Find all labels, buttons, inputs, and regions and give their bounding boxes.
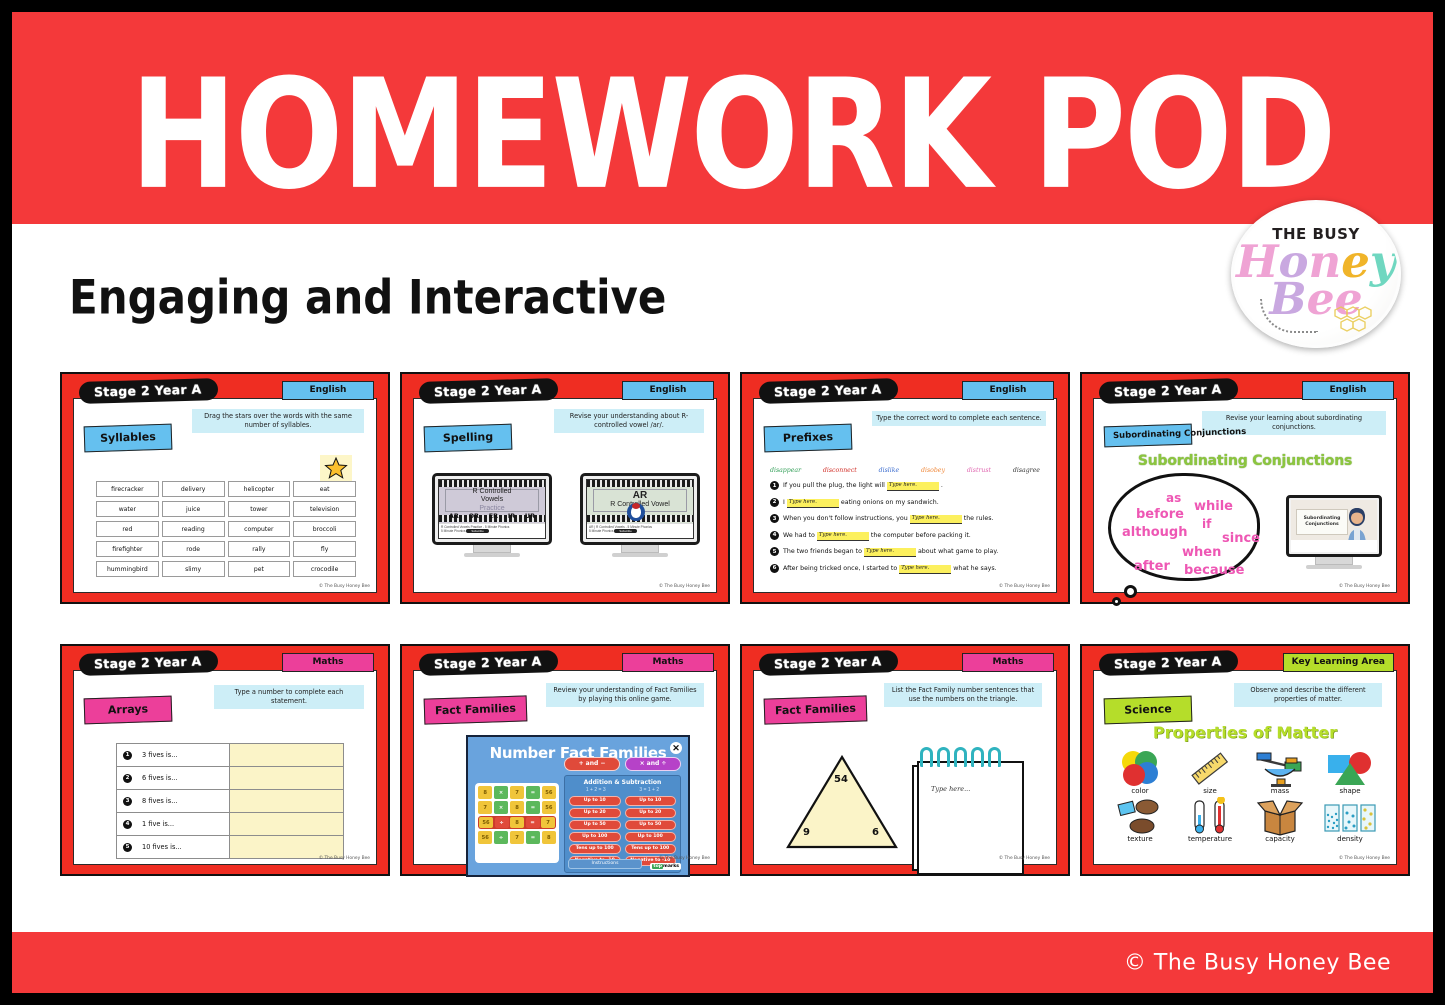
- table-row: 2 6 fives is...: [117, 767, 343, 790]
- conjunction-word: while: [1194, 499, 1233, 514]
- card-credit: © The Busy Honey Bee: [659, 856, 710, 861]
- board-cell: 7: [510, 831, 524, 844]
- video-info-bar: R Controlled Vowels Practice - 5 Minute …: [439, 523, 545, 538]
- item-number: 2: [123, 774, 132, 783]
- level-button[interactable]: Up to 20: [569, 808, 621, 818]
- sentence-after: about what game to play.: [918, 548, 998, 555]
- conjunction-word: because: [1184, 563, 1244, 578]
- triangle-right-number: 6: [872, 827, 879, 838]
- level-button[interactable]: Tens up to 100: [625, 844, 677, 854]
- instruction-text: Drag the stars over the words with the s…: [192, 409, 364, 433]
- word-bank-item: disagree: [1013, 467, 1040, 474]
- bubble-dot: [1124, 585, 1137, 598]
- word-bank-item: dislike: [879, 467, 899, 474]
- answer-input[interactable]: Type here.: [910, 515, 962, 524]
- page-title: HOMEWORK POD: [130, 38, 1345, 233]
- conjunction-word: although: [1122, 525, 1187, 540]
- card-body: Fact Families Review your understanding …: [413, 670, 717, 865]
- item-number: 6: [770, 564, 779, 573]
- word-cell[interactable]: computer: [228, 521, 291, 537]
- property-item: mass: [1246, 749, 1314, 795]
- board-cell: 8: [510, 801, 524, 814]
- card-credit: © The Busy Honey Bee: [999, 584, 1050, 589]
- level-button[interactable]: Up to 20: [625, 808, 677, 818]
- card-row-1: Stage 2 Year A English Syllables Drag th…: [60, 372, 1407, 604]
- ring-icon: [937, 747, 950, 767]
- card-credit: © The Busy Honey Bee: [1339, 856, 1390, 861]
- mode-multiplication-button[interactable]: × and ÷: [625, 757, 681, 771]
- ring-icon: [920, 747, 933, 767]
- word-cell[interactable]: broccoli: [293, 521, 356, 537]
- question-cell: 1 3 fives is...: [117, 744, 230, 766]
- table-row: hummingbird slimy pet crocodile: [96, 561, 356, 577]
- card-credit: © The Busy Honey Bee: [319, 584, 370, 589]
- game-board: 8 × 7 = 56 7 × 8 =: [475, 783, 559, 863]
- video-thumbnail[interactable]: Subordinating Conjunctions: [1286, 495, 1382, 569]
- topic-badge-fact-families: Fact Families: [764, 695, 868, 724]
- arrays-table: 1 3 fives is... 2 6 fives is...: [116, 743, 344, 859]
- answer-input[interactable]: [230, 813, 343, 835]
- poster-inner: HOMEWORK POD Engaging and Interactive TH…: [12, 12, 1433, 993]
- answer-input[interactable]: Type here.: [864, 548, 916, 557]
- video-info-bar: [1291, 540, 1377, 552]
- topmarks-logo: topmarks: [650, 863, 681, 870]
- footer-spacer: [12, 918, 1433, 932]
- slide-title: Properties of Matter: [1094, 723, 1396, 742]
- stage-badge: Stage 2 Year A: [419, 378, 559, 404]
- card-grid: Stage 2 Year A English Syllables Drag th…: [12, 372, 1433, 918]
- kla-badge-maths: Maths: [962, 653, 1054, 672]
- word-bank: disappear disconnect dislike disobey dis…: [770, 467, 1040, 474]
- word-cell[interactable]: delivery: [162, 481, 225, 497]
- sentence-before: If you pull the plug, the light will: [783, 482, 885, 489]
- answer-input[interactable]: Type here.: [899, 565, 951, 574]
- conjunction-word: before: [1136, 507, 1184, 522]
- card-body: Syllables Drag the stars over the words …: [73, 398, 377, 593]
- kla-badge-english: English: [962, 381, 1054, 400]
- honeycomb-icon: [1334, 305, 1376, 335]
- card-credit: © The Busy Honey Bee: [999, 856, 1050, 861]
- conjunction-word: after: [1134, 559, 1170, 574]
- shapes-icon: [1316, 749, 1384, 789]
- card-fact-families-game[interactable]: Stage 2 Year A Maths Fact Families Revie…: [400, 644, 730, 876]
- card-science[interactable]: Stage 2 Year A Key Learning Area Science…: [1080, 644, 1410, 876]
- monitor-screen: Subordinating Conjunctions: [1291, 500, 1377, 552]
- level-button[interactable]: Up to 100: [625, 832, 677, 842]
- monitor-stand: [621, 545, 659, 553]
- panel-subheads: 1 + 2 = 3 3 = 1 + 2: [569, 787, 676, 793]
- sentence-after: what he says.: [953, 565, 997, 572]
- word-cell[interactable]: reading: [162, 521, 225, 537]
- triangle-left-number: 9: [803, 827, 810, 838]
- instructions-button[interactable]: Instructions: [568, 859, 642, 870]
- board-cell: 56: [478, 831, 492, 844]
- ring-icon: [971, 747, 984, 767]
- property-item: temperature: [1176, 797, 1244, 843]
- item-number: 5: [770, 547, 779, 556]
- board-cell: ×: [494, 801, 508, 814]
- notepad-input[interactable]: Type here...: [931, 785, 970, 793]
- instruction-text: Type the correct word to complete each s…: [872, 411, 1046, 426]
- level-button[interactable]: Up to 50: [569, 820, 621, 830]
- kla-badge-key-learning-area: Key Learning Area: [1283, 653, 1394, 672]
- item-number: 4: [123, 820, 132, 829]
- question-text: 10 fives is...: [142, 843, 182, 851]
- vowel-list: AR OR ER IR UR: [444, 512, 540, 520]
- beakers-icon: [1316, 797, 1384, 837]
- board-cell: ×: [494, 786, 508, 799]
- card-syllables[interactable]: Stage 2 Year A English Syllables Drag th…: [60, 372, 390, 604]
- video-thumbnail-left[interactable]: R Controlled Vowels Practice AR OR ER IR: [432, 473, 552, 557]
- thermometers-icon: [1176, 797, 1244, 837]
- card-subordinating-conjunctions[interactable]: Stage 2 Year A English Subordinating Con…: [1080, 372, 1410, 604]
- syllables-table: firecracker delivery helicopter eat wate…: [96, 481, 356, 581]
- sentence-after: the rules.: [964, 515, 994, 522]
- kla-badge-english: English: [622, 381, 714, 400]
- color-circles-icon: [1106, 749, 1174, 789]
- sentence-item: 4 We had to Type here. the computer befo…: [770, 531, 1042, 540]
- word-bank-item: disobey: [921, 467, 945, 474]
- board-cell: 7: [541, 817, 555, 828]
- board-cell: 8: [478, 786, 492, 799]
- board-cell: ÷: [495, 817, 509, 828]
- question-text: 3 fives is...: [142, 751, 178, 759]
- game-mode-buttons: + and − × and ÷: [564, 757, 681, 771]
- property-item: density: [1316, 797, 1384, 843]
- monitor-frame: AR R Controlled Vowel AR | R Controlled …: [580, 473, 700, 545]
- fact-triangle: 54 9 6: [784, 753, 900, 851]
- board-cell: =: [526, 801, 540, 814]
- hero-banner: HOMEWORK POD: [12, 12, 1433, 224]
- star-icon: [324, 456, 348, 480]
- instruction-text: Observe and describe the different prope…: [1234, 683, 1382, 707]
- texture-rocks-icon: [1106, 797, 1174, 837]
- table-row: red reading computer broccoli: [96, 521, 356, 537]
- card-credit: © The Busy Honey Bee: [659, 584, 710, 589]
- panel-title: Addition & Subtraction: [569, 779, 676, 786]
- sentence-before: After being tricked once, I started to: [783, 565, 897, 572]
- level-button[interactable]: Up to 10: [625, 796, 677, 806]
- board-row: 56 ÷ 7 = 8: [478, 831, 556, 844]
- board-row: 8 × 7 = 56: [478, 786, 556, 799]
- board-cell: 56: [479, 817, 493, 828]
- penguin-avatar-icon: [627, 503, 645, 521]
- kla-badge-english: English: [1302, 381, 1394, 400]
- subscribe-button[interactable]: Subscribe: [614, 529, 636, 533]
- board-cell: 56: [542, 786, 556, 799]
- logo-swirl-icon: [1260, 299, 1318, 333]
- stage-badge: Stage 2 Year A: [1099, 378, 1239, 404]
- notepad-rings: [920, 747, 1001, 767]
- instruction-text: List the Fact Family number sentences th…: [884, 683, 1042, 707]
- monitor-screen: R Controlled Vowels Practice AR OR ER IR: [438, 479, 546, 539]
- footer-bar: © The Busy Honey Bee: [12, 932, 1433, 993]
- ring-icon: [988, 747, 1001, 767]
- stage-badge: Stage 2 Year A: [79, 378, 219, 404]
- conjunction-word: if: [1202, 517, 1211, 531]
- word-cell[interactable]: fly: [293, 541, 356, 557]
- card-credit: © The Busy Honey Bee: [319, 856, 370, 861]
- stage-badge: Stage 2 Year A: [419, 650, 559, 676]
- word-bank-item: disappear: [770, 467, 801, 474]
- card-body: Spelling Revise your understanding about…: [413, 398, 717, 593]
- whiteboard-text: Subordinating Conjunctions: [1296, 509, 1348, 535]
- topic-badge-science: Science: [1104, 696, 1193, 725]
- card-credit: © The Busy Honey Bee: [1339, 584, 1390, 589]
- item-number: 3: [770, 514, 779, 523]
- ring-icon: [954, 747, 967, 767]
- level-button[interactable]: Up to 10: [569, 796, 621, 806]
- online-game-window[interactable]: Number Fact Families ✕ + and − × and ÷ 8…: [466, 735, 690, 877]
- card-prefixes[interactable]: Stage 2 Year A English Prefixes Type the…: [740, 372, 1070, 604]
- box-icon: [1246, 797, 1314, 837]
- word-cell[interactable]: red: [96, 521, 159, 537]
- sentence-before: We had to: [783, 532, 815, 539]
- properties-grid: color: [1106, 749, 1384, 843]
- property-item: color: [1106, 749, 1174, 795]
- board-cell: ÷: [494, 831, 508, 844]
- monitor-frame: Subordinating Conjunctions: [1286, 495, 1382, 557]
- table-row: firefighter rode rally fly: [96, 541, 356, 557]
- monitor-base: [464, 553, 520, 557]
- word-cell[interactable]: crocodile: [293, 561, 356, 577]
- col-head-1: 1 + 2 = 3: [586, 787, 606, 793]
- card-row-2: Stage 2 Year A Maths Arrays Type a numbe…: [60, 644, 1407, 876]
- poster-page: HOMEWORK POD Engaging and Interactive TH…: [0, 0, 1445, 1005]
- subtitle-band: Engaging and Interactive: [12, 224, 1433, 372]
- level-button[interactable]: Up to 50: [625, 820, 677, 830]
- sentence-item: 2 I Type here. eating onions on my sandw…: [770, 498, 1042, 507]
- stage-badge: Stage 2 Year A: [79, 650, 219, 676]
- page-subtitle: Engaging and Interactive: [69, 270, 666, 325]
- sentence-before: The two friends began to: [783, 548, 862, 555]
- mode-addition-button[interactable]: + and −: [564, 757, 620, 771]
- question-text: 1 five is...: [142, 820, 174, 828]
- monitor-screen: AR R Controlled Vowel AR | R Controlled …: [586, 479, 694, 539]
- word-cell[interactable]: rally: [228, 541, 291, 557]
- level-button[interactable]: Up to 100: [569, 832, 621, 842]
- question-text: 8 fives is...: [142, 797, 178, 805]
- board-cell: 7: [478, 801, 492, 814]
- stage-badge: Stage 2 Year A: [1099, 650, 1239, 676]
- word-cell[interactable]: tower: [228, 501, 291, 517]
- footer-copyright: © The Busy Honey Bee: [1124, 950, 1391, 975]
- answer-input[interactable]: [230, 790, 343, 812]
- topic-badge-syllables: Syllables: [84, 424, 173, 453]
- sentence-after: .: [941, 482, 943, 489]
- answer-input[interactable]: Type here.: [887, 482, 939, 491]
- monitor-frame: R Controlled Vowels Practice AR OR ER IR: [432, 473, 552, 545]
- word-cell[interactable]: firefighter: [96, 541, 159, 557]
- sentence-before: When you don't follow instructions, you: [783, 515, 908, 522]
- board-cell: =: [526, 817, 540, 828]
- word-cell[interactable]: helicopter: [228, 481, 291, 497]
- triangle-top-number: 54: [834, 774, 848, 785]
- conjunction-word: since: [1222, 531, 1260, 546]
- video-info-bar: AR | R Controlled Vowels - 5 Minute Phon…: [587, 523, 693, 538]
- answer-input[interactable]: [230, 767, 343, 789]
- table-row: 4 1 five is...: [117, 813, 343, 836]
- card-body: Fact Families List the Fact Family numbe…: [753, 670, 1057, 865]
- sentence-item: 5 The two friends began to Type here. ab…: [770, 547, 1042, 556]
- word-cell[interactable]: water: [96, 501, 159, 517]
- sentence-before: I: [783, 499, 785, 506]
- monitor-base: [612, 553, 668, 557]
- sentence-item: 6 After being tricked once, I started to…: [770, 564, 1042, 573]
- board-cell: 8: [510, 817, 524, 828]
- triangle-icon: [784, 753, 900, 851]
- item-number: 3: [123, 797, 132, 806]
- word-cell[interactable]: pet: [228, 561, 291, 577]
- conjunction-word: as: [1166, 491, 1181, 505]
- topic-badge-fact-families: Fact Families: [424, 695, 528, 724]
- sentence-list: 1 If you pull the plug, the light will T…: [770, 481, 1042, 581]
- film-strip-icon: [587, 480, 693, 487]
- board-cell: 56: [542, 801, 556, 814]
- topic-badge-conjunctions: Subordinating Conjunctions: [1104, 424, 1193, 448]
- video-thumbnail-right[interactable]: AR R Controlled Vowel AR | R Controlled …: [580, 473, 700, 557]
- kla-badge-maths: Maths: [282, 653, 374, 672]
- ruler-icon: [1176, 749, 1244, 789]
- table-row: water juice tower television: [96, 501, 356, 517]
- word-bank-item: disconnect: [823, 467, 857, 474]
- instruction-text: Review your understanding of Fact Famili…: [546, 683, 704, 707]
- board-cell: =: [526, 786, 540, 799]
- sentence-after: the computer before packing it.: [871, 532, 971, 539]
- table-row: 5 10 fives is...: [117, 836, 343, 858]
- brand-logo: THE BUSY Honey Bee: [1231, 200, 1401, 348]
- item-number: 5: [123, 843, 132, 852]
- card-body: Prefixes Type the correct word to comple…: [753, 398, 1057, 593]
- item-number: 1: [770, 481, 779, 490]
- col-head-2: 3 = 1 + 2: [639, 787, 659, 793]
- balance-scale-icon: [1246, 749, 1314, 789]
- property-item: size: [1176, 749, 1244, 795]
- stage-badge: Stage 2 Year A: [759, 650, 899, 676]
- stage-badge: Stage 2 Year A: [759, 378, 899, 404]
- property-item: shape: [1316, 749, 1384, 795]
- answer-input[interactable]: Type here.: [787, 499, 839, 508]
- topic-badge-spelling: Spelling: [424, 424, 513, 453]
- sentence-after: eating onions on my sandwich.: [841, 499, 939, 506]
- word-cell[interactable]: slimy: [162, 561, 225, 577]
- kla-badge-maths: Maths: [622, 653, 714, 672]
- question-cell: 4 1 five is...: [117, 813, 230, 835]
- instruction-text: Type a number to complete each statement…: [214, 685, 364, 709]
- sentence-item: 3 When you don't follow instructions, yo…: [770, 514, 1042, 523]
- star-token[interactable]: [320, 455, 352, 481]
- word-bank-item: distrust: [967, 467, 991, 474]
- instruction-text: Revise your understanding about R-contro…: [554, 409, 704, 433]
- monitor-base: [1306, 565, 1362, 569]
- kla-badge-english: English: [282, 381, 374, 400]
- item-number: 4: [770, 531, 779, 540]
- card-body: Science Observe and describe the differe…: [1093, 670, 1397, 865]
- board-row: 7 × 8 = 56: [478, 801, 556, 814]
- table-row: 3 8 fives is...: [117, 790, 343, 813]
- video-title-box: R Controlled Vowels Practice: [445, 489, 539, 512]
- question-cell: 3 8 fives is...: [117, 790, 230, 812]
- close-icon[interactable]: ✕: [670, 742, 682, 754]
- card-body: Subordinating Conjunctions Revise your l…: [1093, 398, 1397, 593]
- word-cell[interactable]: eat: [293, 481, 356, 497]
- answer-input[interactable]: [230, 744, 343, 766]
- answer-input[interactable]: Type here.: [817, 532, 869, 541]
- board-cell: =: [526, 831, 540, 844]
- question-cell: 5 10 fives is...: [117, 836, 230, 858]
- word-cell[interactable]: rode: [162, 541, 225, 557]
- subscribe-button[interactable]: Subscribe: [466, 529, 488, 533]
- card-spelling[interactable]: Stage 2 Year A English Spelling Revise y…: [400, 372, 730, 604]
- word-cell[interactable]: hummingbird: [96, 561, 159, 577]
- level-button[interactable]: Tens up to 100: [569, 844, 621, 854]
- item-number: 1: [123, 751, 132, 760]
- sentence-item: 1 If you pull the plug, the light will T…: [770, 481, 1042, 490]
- item-number: 2: [770, 498, 779, 507]
- table-row: 1 3 fives is...: [117, 744, 343, 767]
- word-cell[interactable]: firecracker: [96, 481, 159, 497]
- monitor-stand: [473, 545, 511, 553]
- bubble-dot: [1112, 597, 1121, 606]
- card-body: Arrays Type a number to complete each st…: [73, 670, 377, 865]
- property-item: texture: [1106, 797, 1174, 843]
- option-column-1: Up to 10 Up to 20 Up to 50 Up to 100 Ten…: [569, 796, 621, 868]
- film-strip-icon: [439, 480, 545, 487]
- word-cell[interactable]: juice: [162, 501, 225, 517]
- board-cell: 8: [542, 831, 556, 844]
- board-cell: 7: [510, 786, 524, 799]
- monitor-stand: [1315, 557, 1353, 565]
- property-item: capacity: [1246, 797, 1314, 843]
- word-cell[interactable]: television: [293, 501, 356, 517]
- card-fact-families-triangle[interactable]: Stage 2 Year A Maths Fact Families List …: [740, 644, 1070, 876]
- topic-badge-prefixes: Prefixes: [764, 424, 853, 453]
- table-row: firecracker delivery helicopter eat: [96, 481, 356, 497]
- answer-input[interactable]: [230, 836, 343, 858]
- board-row: 56 ÷ 8 = 7: [478, 816, 556, 829]
- card-arrays[interactable]: Stage 2 Year A Maths Arrays Type a numbe…: [60, 644, 390, 876]
- question-text: 6 fives is...: [142, 774, 178, 782]
- conjunction-word: when: [1182, 545, 1221, 560]
- topic-badge-arrays: Arrays: [84, 696, 173, 725]
- question-cell: 2 6 fives is...: [117, 767, 230, 789]
